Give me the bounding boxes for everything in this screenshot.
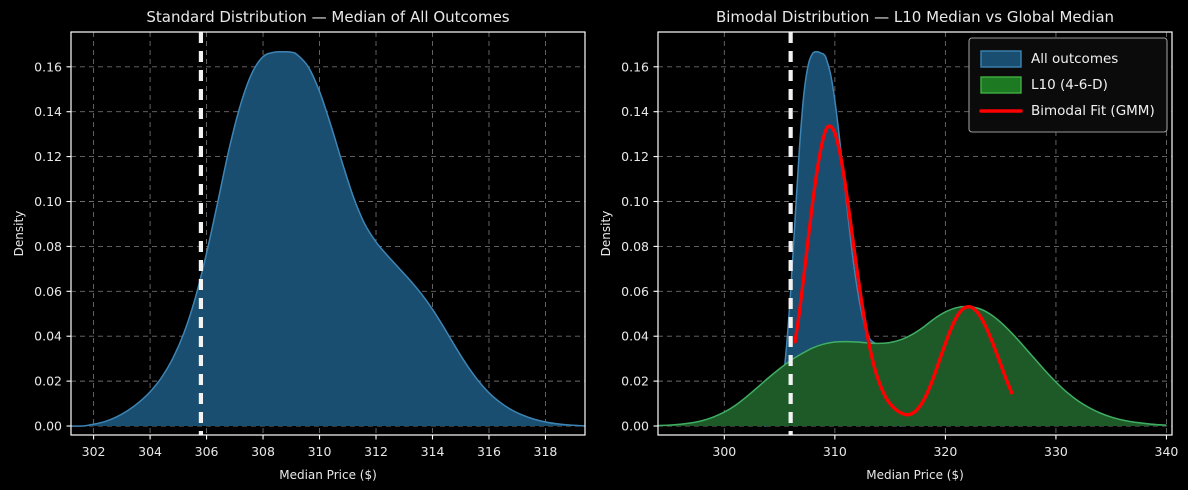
plot-title-bimodal-distribution: Bimodal Distribution — L10 Median vs Glo… <box>716 8 1114 26</box>
y-tick-label: 0.02 <box>621 374 649 389</box>
panel-bimodal-distribution: Bimodal Distribution — L10 Median vs Glo… <box>594 0 1188 490</box>
x-axis-label: Median Price ($) <box>866 468 964 482</box>
legend-label: All outcomes <box>1031 51 1118 67</box>
y-axis-label: Density <box>599 211 613 257</box>
y-tick-label: 0.16 <box>621 59 649 74</box>
x-tick-label: 310 <box>823 444 847 459</box>
y-tick-label: 0.06 <box>34 284 62 299</box>
y-tick-label: 0.08 <box>34 239 62 254</box>
x-tick-label: 306 <box>195 444 219 459</box>
y-tick-label: 0.02 <box>34 374 62 389</box>
y-tick-label: 0.14 <box>34 104 62 119</box>
y-tick-label: 0.04 <box>621 329 649 344</box>
x-tick-label: 304 <box>138 444 162 459</box>
y-tick-label: 0.04 <box>34 329 62 344</box>
y-tick-label: 0.16 <box>34 59 62 74</box>
x-tick-label: 330 <box>1044 444 1068 459</box>
x-tick-label: 312 <box>364 444 388 459</box>
y-tick-label: 0.12 <box>34 149 62 164</box>
y-tick-label: 0.10 <box>34 194 62 209</box>
y-axis-label: Density <box>12 211 26 257</box>
y-tick-label: 0.06 <box>621 284 649 299</box>
x-tick-label: 302 <box>82 444 106 459</box>
plot-title-standard-distribution: Standard Distribution — Median of All Ou… <box>146 8 509 26</box>
x-tick-label: 340 <box>1155 444 1179 459</box>
y-tick-label: 0.10 <box>621 194 649 209</box>
figure-canvas: Standard Distribution — Median of All Ou… <box>0 0 1188 490</box>
legend-label: L10 (4-6-D) <box>1031 77 1108 93</box>
x-tick-label: 310 <box>308 444 332 459</box>
y-tick-label: 0.08 <box>621 239 649 254</box>
y-tick-label: 0.14 <box>621 104 649 119</box>
plot-area-standard-distribution <box>71 32 585 435</box>
x-tick-label: 320 <box>933 444 957 459</box>
y-tick-label: 0.12 <box>621 149 649 164</box>
legend-swatch <box>981 51 1021 67</box>
x-tick-label: 300 <box>712 444 736 459</box>
series-area-all-outcomes <box>71 52 585 426</box>
y-tick-label: 0.00 <box>34 419 62 434</box>
x-tick-label: 318 <box>534 444 558 459</box>
x-tick-label: 316 <box>477 444 501 459</box>
legend: All outcomesL10 (4-6-D)Bimodal Fit (GMM) <box>969 38 1167 132</box>
chart-svg-bimodal: Bimodal Distribution — L10 Median vs Glo… <box>594 0 1188 490</box>
y-tick-label: 0.00 <box>621 419 649 434</box>
x-tick-label: 314 <box>421 444 445 459</box>
panel-standard-distribution: Standard Distribution — Median of All Ou… <box>0 0 594 490</box>
legend-label: Bimodal Fit (GMM) <box>1031 103 1155 119</box>
legend-swatch <box>981 77 1021 93</box>
chart-svg-standard: Standard Distribution — Median of All Ou… <box>0 0 594 490</box>
x-axis-label: Median Price ($) <box>279 468 377 482</box>
x-tick-label: 308 <box>251 444 275 459</box>
